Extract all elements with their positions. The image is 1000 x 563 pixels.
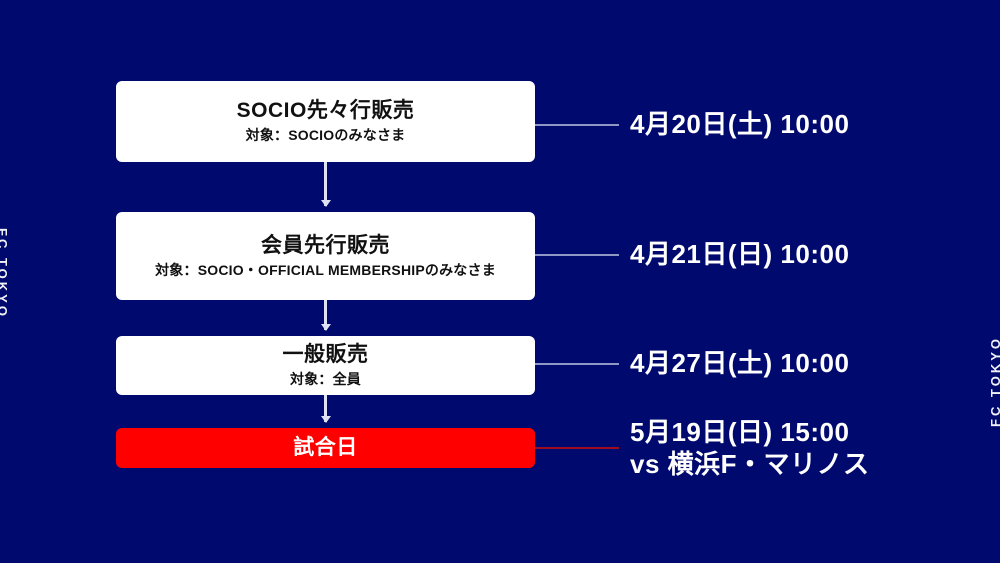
step-subtitle: 対象：SOCIO・OFFICIAL MEMBERSHIPのみなさま (155, 262, 496, 279)
leader-line-3 (535, 363, 619, 365)
step-subtitle: 対象：全員 (290, 371, 361, 388)
leader-line-1 (535, 124, 619, 126)
step-box-member-advance[interactable]: 会員先行販売 対象：SOCIO・OFFICIAL MEMBERSHIPのみなさま (116, 212, 535, 300)
flow-arrow-down-icon (324, 395, 327, 422)
step-date-general-sale: 4月27日(土) 10:00 (630, 348, 849, 380)
match-kickoff-time: 5月19日(日) 15:00 (630, 417, 849, 447)
flow-arrow-down-icon (324, 300, 327, 330)
step-title: 試合日 (293, 436, 358, 460)
step-box-socio-advance[interactable]: SOCIO先々行販売 対象：SOCIOのみなさま (116, 81, 535, 162)
ticket-sales-timeline: FC TOKYO FC TOKYO SOCIO先々行販売 対象：SOCIOのみな… (0, 0, 1000, 563)
step-date-socio-advance: 4月20日(土) 10:00 (630, 109, 849, 141)
match-opponent: vs 横浜F・マリノス (630, 449, 870, 481)
step-title: 会員先行販売 (261, 234, 390, 258)
step-title: SOCIO先々行販売 (237, 99, 415, 123)
step-date-match-day: 5月19日(日) 15:00 vs 横浜F・マリノス (630, 417, 870, 480)
leader-line-2 (535, 254, 619, 256)
step-box-general-sale[interactable]: 一般販売 対象：全員 (116, 336, 535, 395)
brand-wordmark-left: FC TOKYO (0, 228, 10, 319)
step-subtitle: 対象：SOCIOのみなさま (246, 127, 406, 144)
flow-arrow-down-icon (324, 162, 327, 206)
step-date-member-advance: 4月21日(日) 10:00 (630, 239, 849, 271)
step-box-match-day[interactable]: 試合日 (116, 428, 535, 468)
step-title: 一般販売 (283, 343, 369, 367)
brand-wordmark-right: FC TOKYO (988, 336, 1000, 427)
leader-line-4 (535, 447, 619, 449)
